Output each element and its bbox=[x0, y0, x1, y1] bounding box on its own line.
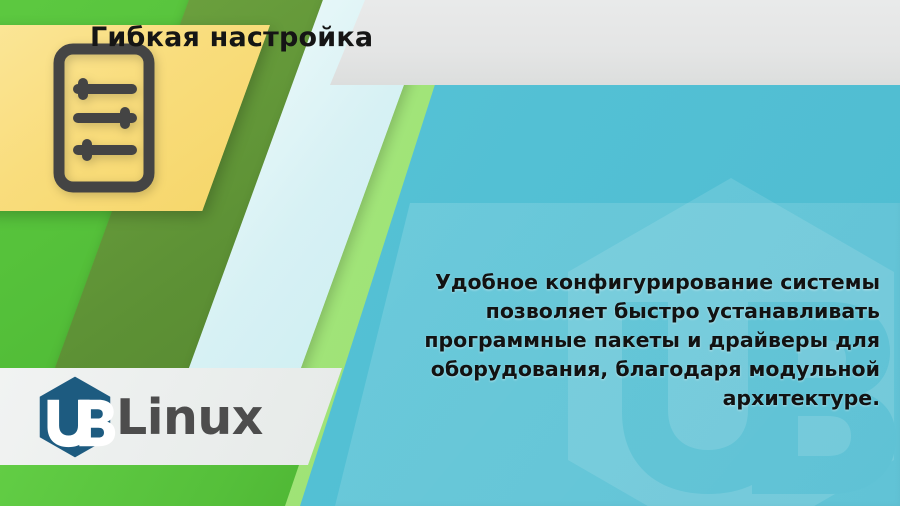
body-paragraph: Удобное конфигурирование системы позволя… bbox=[420, 268, 880, 414]
title-banner bbox=[330, 0, 900, 85]
page-title: Гибкая настройка bbox=[90, 22, 373, 53]
settings-sliders-icon bbox=[52, 42, 156, 194]
bottom-green-accent bbox=[0, 462, 320, 506]
brand-logo: Linux bbox=[32, 374, 263, 460]
slide-root: Гибкая настройка Удобное конфигурировани… bbox=[0, 0, 900, 506]
logo-wordmark: Linux bbox=[116, 393, 263, 442]
ub-hexagon-icon bbox=[32, 374, 118, 460]
